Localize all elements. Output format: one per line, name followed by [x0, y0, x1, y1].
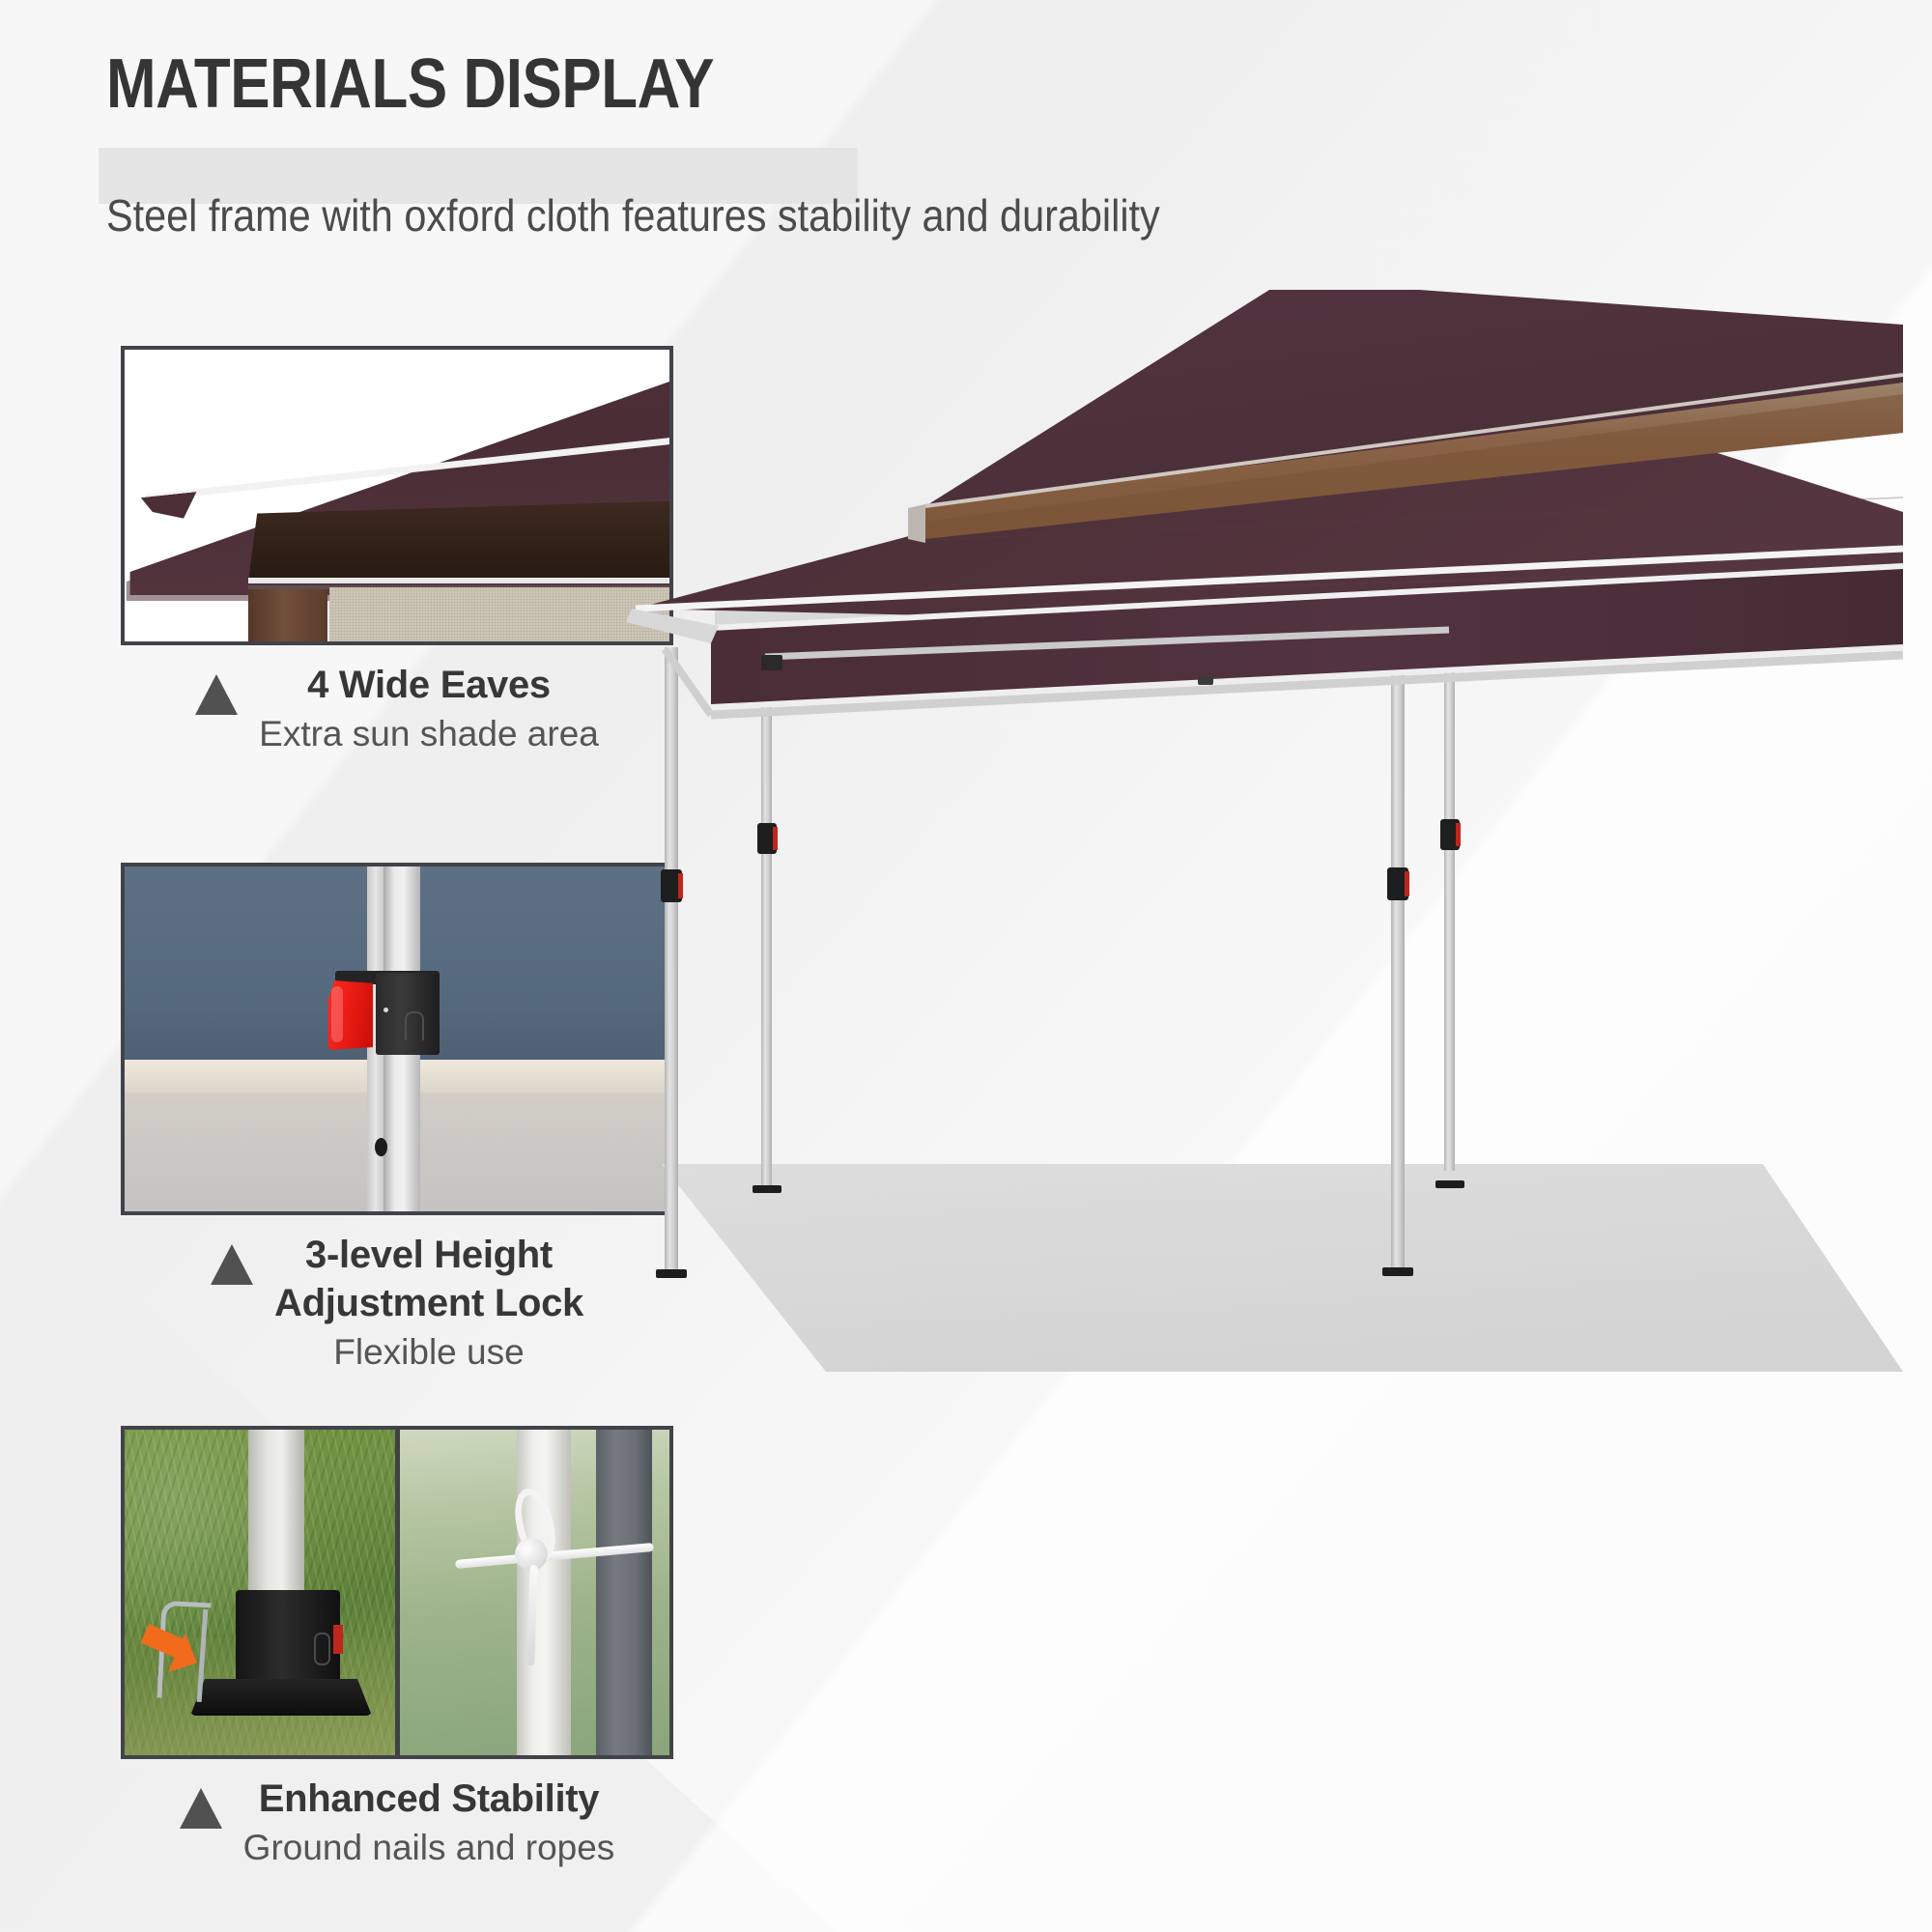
photo-height-lock — [121, 863, 673, 1215]
canopy-corner-post — [248, 589, 327, 645]
page-header: MATERIALS DISPLAY — [106, 46, 1265, 122]
photo-wide-eaves — [121, 346, 673, 645]
lever-highlight — [331, 986, 343, 1042]
feature-title: Enhanced Stability — [243, 1775, 615, 1823]
infographic-root: MATERIALS DISPLAY Steel frame with oxfor… — [0, 0, 1932, 1932]
triangle-up-icon — [211, 1244, 253, 1285]
pole-adjustment-hole — [375, 1138, 387, 1156]
photo-split-divider — [395, 1430, 400, 1755]
leg-base-plate — [190, 1679, 372, 1716]
photo-half-ground-stake — [125, 1430, 397, 1755]
triangle-up-icon — [195, 674, 238, 715]
caption-height-lock: 3-level Height Adjustment Lock Flexible … — [121, 1215, 673, 1376]
feature-card-stability: Enhanced Stability Ground nails and rope… — [121, 1426, 673, 1871]
feature-subtitle: Ground nails and ropes — [243, 1825, 615, 1871]
frame-bracket-right — [1198, 676, 1213, 685]
feature-title: 4 Wide Eaves — [259, 661, 599, 709]
leg-back-right — [1444, 630, 1455, 1171]
page-subtitle: Steel frame with oxford cloth features s… — [106, 188, 1160, 242]
leg-front-right — [1391, 645, 1405, 1273]
feature-card-wide-eaves: 4 Wide Eaves Extra sun shade area — [121, 346, 673, 757]
foot-red-tab — [333, 1625, 343, 1654]
frame-bracket-left — [761, 655, 782, 670]
ground-shadow — [662, 1164, 1903, 1372]
gazebo-leg-light — [517, 1430, 571, 1755]
canopy-valance-band — [248, 500, 673, 582]
feature-title-line1: 3-level Height — [274, 1231, 583, 1279]
lock-slot — [405, 1011, 424, 1040]
photo-enhanced-stability — [121, 1426, 673, 1759]
page-title: MATERIALS DISPLAY — [106, 46, 1103, 122]
vent-left-return — [908, 504, 925, 543]
triangle-up-icon — [180, 1788, 222, 1829]
leg-lock-collars — [661, 819, 1461, 902]
feature-card-height-lock: 3-level Height Adjustment Lock Flexible … — [121, 863, 673, 1376]
valance-white-piping — [248, 578, 673, 583]
feature-subtitle: Extra sun shade area — [259, 711, 599, 757]
lock-screw — [384, 1008, 388, 1012]
caption-wide-eaves: 4 Wide Eaves Extra sun shade area — [121, 645, 673, 757]
leg-front-left — [665, 647, 678, 1275]
eave-corner-tip — [626, 609, 719, 643]
foot-slot — [314, 1633, 330, 1665]
product-hero-render — [618, 290, 1903, 1507]
feature-subtitle: Flexible use — [274, 1329, 583, 1376]
caption-enhanced-stability: Enhanced Stability Ground nails and rope… — [121, 1759, 673, 1871]
gazebo-leg — [248, 1430, 304, 1605]
feature-title-line2: Adjustment Lock — [274, 1279, 583, 1327]
